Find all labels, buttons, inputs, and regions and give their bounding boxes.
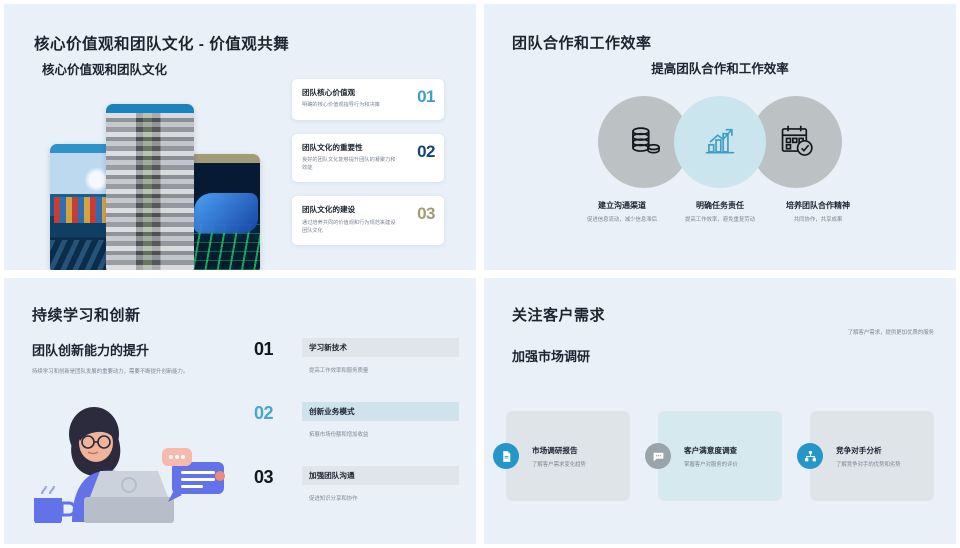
circle-label: 明确任务责任 提高工作效率，避免重复劳动 bbox=[671, 200, 769, 225]
circle-label: 培养团队合作精神 共同协作，共享成果 bbox=[769, 200, 867, 225]
research-card-title: 市场调研报告 bbox=[532, 445, 586, 456]
circle-label-desc: 共同协作，共享成果 bbox=[773, 216, 863, 225]
research-card-title: 竞争对手分析 bbox=[836, 445, 901, 456]
value-card-title: 团队文化的建设 bbox=[302, 205, 398, 214]
step-desc: 拓展市场份额和增加收益 bbox=[302, 430, 459, 438]
step-item[interactable]: 01 学习新技术 提高工作效率和服务质量 bbox=[254, 338, 459, 394]
panel-customer-needs: 关注客户需求 了解客户需求，提供更加优质的服务 加强市场调研 市场调研报告 了解… bbox=[484, 278, 956, 544]
value-card-number: 03 bbox=[417, 205, 435, 222]
step-title-bar: 加强团队沟通 bbox=[302, 466, 459, 485]
step-number: 02 bbox=[254, 402, 302, 422]
circle-task-responsibility[interactable] bbox=[674, 96, 766, 188]
step-list: 01 学习新技术 提高工作效率和服务质量 02 创新业务模式 拓展市场份额和增加… bbox=[254, 338, 459, 530]
panel4-note: 了解客户需求，提供更加优质的服务 bbox=[848, 328, 934, 336]
step-desc: 提高工作效率和服务质量 bbox=[302, 366, 459, 374]
research-card-desc: 了解客户需求变化趋势 bbox=[532, 460, 586, 468]
step-title-bar: 创新业务模式 bbox=[302, 402, 459, 421]
circle-label-desc: 促进信息流动，减少信息滞后 bbox=[577, 216, 667, 225]
panel1-subtitle: 核心价值观和团队文化 bbox=[42, 59, 167, 78]
value-card[interactable]: 团队核心价值观 明确的核心价值观指导行为和决策 01 bbox=[292, 79, 444, 120]
panel-teamwork-efficiency: 团队合作和工作效率 提高团队合作和工作效率 bbox=[484, 4, 956, 270]
panel4-subheading: 加强市场调研 bbox=[512, 346, 590, 365]
circle-icon-row bbox=[484, 92, 956, 192]
circle-label-title: 建立沟通渠道 bbox=[577, 200, 667, 211]
step-number: 03 bbox=[254, 466, 302, 486]
value-card-title: 团队核心价值观 bbox=[302, 88, 398, 97]
chat-icon bbox=[645, 443, 671, 469]
value-card-number: 01 bbox=[417, 88, 435, 105]
panel3-description: 持续学习和创新是团队发展的重要动力，需要不断提升创新能力。 bbox=[32, 368, 242, 377]
circle-label-title: 培养团队合作精神 bbox=[773, 200, 863, 211]
document-icon bbox=[493, 443, 519, 469]
photo-collage bbox=[48, 104, 288, 270]
research-card-row: 市场调研报告 了解客户需求变化趋势 客户满意度调查 掌握客户对服务的评价 bbox=[506, 411, 934, 501]
value-card-desc: 通过培养共同的价值观和行为规范来建设团队文化 bbox=[302, 219, 398, 235]
woman-laptop-illustration bbox=[24, 398, 239, 523]
step-title: 学习新技术 bbox=[309, 342, 452, 353]
research-card[interactable]: 竞争对手分析 了解竞争对手的优势和劣势 bbox=[810, 411, 934, 501]
research-card-title: 客户满意度调查 bbox=[684, 445, 738, 456]
page-title: 团队合作和工作效率 bbox=[512, 32, 652, 53]
value-card-number: 02 bbox=[417, 143, 435, 160]
circle-label-row: 建立沟通渠道 促进信息流动，减少信息滞后 明确任务责任 提高工作效率，避免重复劳… bbox=[484, 200, 956, 225]
page-title: 持续学习和创新 bbox=[32, 304, 141, 325]
step-number: 01 bbox=[254, 338, 302, 358]
coins-icon bbox=[625, 121, 663, 164]
research-card[interactable]: 客户满意度调查 掌握客户对服务的评价 bbox=[658, 411, 782, 501]
panel3-subheading: 团队创新能力的提升 bbox=[32, 340, 149, 359]
calendar-check-icon bbox=[777, 121, 815, 164]
panel-core-values: 核心价值观和团队文化 - 价值观共舞 核心价值观和团队文化 团队核心价值观 明确… bbox=[4, 4, 476, 270]
value-card-desc: 良好的团队文化能够提升团队的凝聚力和效能 bbox=[302, 156, 398, 172]
circle-label: 建立沟通渠道 促进信息流动，减少信息滞后 bbox=[573, 200, 671, 225]
research-card-desc: 了解竞争对手的优势和劣势 bbox=[836, 460, 901, 468]
value-card-title: 团队文化的重要性 bbox=[302, 143, 398, 152]
panel-learning-innovation: 持续学习和创新 团队创新能力的提升 持续学习和创新是团队发展的重要动力，需要不断… bbox=[4, 278, 476, 544]
step-item[interactable]: 03 加强团队沟通 促进知识分享和协作 bbox=[254, 466, 459, 522]
value-card[interactable]: 团队文化的重要性 良好的团队文化能够提升团队的凝聚力和效能 02 bbox=[292, 134, 444, 183]
step-title: 创新业务模式 bbox=[309, 406, 452, 417]
panel2-heading: 提高团队合作和工作效率 bbox=[484, 58, 956, 77]
step-item[interactable]: 02 创新业务模式 拓展市场份额和增加收益 bbox=[254, 402, 459, 458]
step-title: 加强团队沟通 bbox=[309, 470, 452, 481]
step-desc: 促进知识分享和协作 bbox=[302, 494, 459, 502]
page-title: 关注客户需求 bbox=[512, 304, 605, 325]
highway-traffic-photo bbox=[106, 104, 194, 270]
org-chart-icon bbox=[797, 443, 823, 469]
circle-label-desc: 提高工作效率，避免重复劳动 bbox=[675, 216, 765, 225]
step-title-bar: 学习新技术 bbox=[302, 338, 459, 357]
research-card[interactable]: 市场调研报告 了解客户需求变化趋势 bbox=[506, 411, 630, 501]
value-card-desc: 明确的核心价值观指导行为和决策 bbox=[302, 101, 398, 109]
page-title: 核心价值观和团队文化 - 价值观共舞 bbox=[34, 32, 289, 54]
growth-chart-icon bbox=[701, 121, 739, 164]
value-card-list: 团队核心价值观 明确的核心价值观指导行为和决策 01 团队文化的重要性 良好的团… bbox=[292, 79, 444, 259]
slide-grid: 核心价值观和团队文化 - 价值观共舞 核心价值观和团队文化 团队核心价值观 明确… bbox=[0, 0, 960, 548]
value-card[interactable]: 团队文化的建设 通过培养共同的价值观和行为规范来建设团队文化 03 bbox=[292, 196, 444, 245]
circle-label-title: 明确任务责任 bbox=[675, 200, 765, 211]
research-card-desc: 掌握客户对服务的评价 bbox=[684, 460, 738, 468]
